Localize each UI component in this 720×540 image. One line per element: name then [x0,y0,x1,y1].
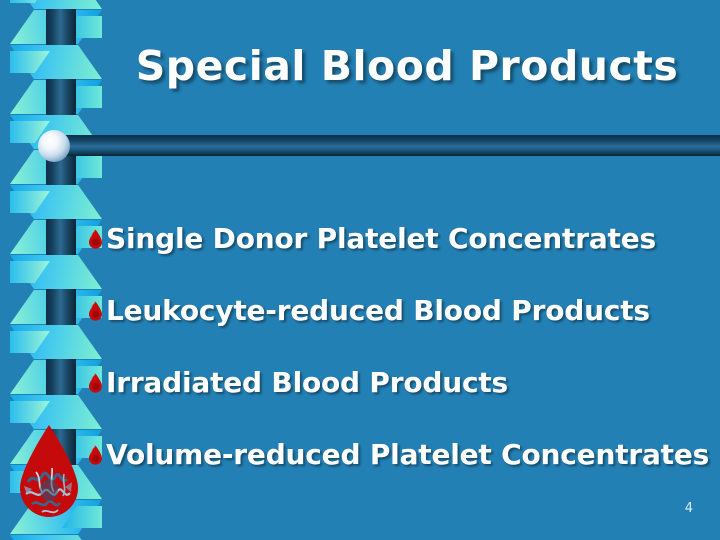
blood-drop-icon [88,229,103,249]
blood-drop-graphic [6,424,92,528]
blood-drop-icon [88,301,103,321]
presentation-slide: Special Blood Products Single Donor Plat… [0,0,720,540]
page-number: 4 [685,501,693,516]
list-item: Volume-reduced Platelet Concentrates [88,418,708,490]
list-item-label: Leukocyte-reduced Blood Products [106,294,650,327]
list-item-label: Irradiated Blood Products [106,366,508,399]
title-divider-bar [56,135,720,156]
ribbon-segment-front [10,535,102,540]
list-item: Leukocyte-reduced Blood Products [88,274,708,346]
list-item-label: Volume-reduced Platelet Concentrates [106,438,709,471]
page-title: Special Blood Products [112,42,702,90]
list-item: Single Donor Platelet Concentrates [88,202,708,274]
list-item-label: Single Donor Platelet Concentrates [106,222,656,255]
blood-drop-icon [88,373,103,393]
glow-sphere-icon [38,130,70,162]
bullet-list: Single Donor Platelet Concentrates Leuko… [88,202,708,490]
list-item: Irradiated Blood Products [88,346,708,418]
